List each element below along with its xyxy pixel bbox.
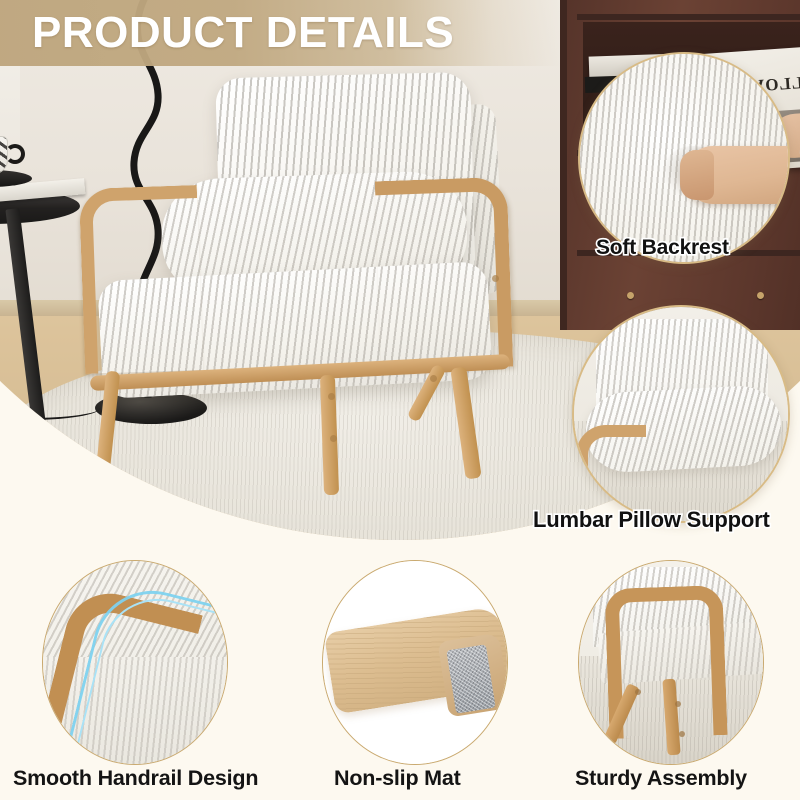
chair-leg — [450, 366, 481, 479]
chair-arm-left — [79, 185, 203, 374]
label-sturdy-assembly: Sturdy Assembly — [575, 766, 747, 791]
feature-sturdy-assembly — [578, 560, 764, 765]
product-details-page: FOLLOW — [0, 0, 800, 800]
assembly-dowel — [635, 689, 641, 695]
cabinet-knob — [757, 292, 764, 299]
chair-dowel — [328, 393, 335, 400]
assembly-dowel — [675, 701, 681, 707]
cabinet-knob — [627, 292, 634, 299]
chair-dowel — [430, 375, 437, 382]
label-soft-backrest: Soft Backrest — [596, 236, 729, 260]
chair-arm-right — [375, 177, 514, 371]
feature-smooth-handrail — [42, 560, 228, 765]
mug-handle — [5, 144, 25, 164]
hand-knuckles — [680, 150, 714, 200]
chair-dowel — [330, 435, 337, 442]
cabinet-shelf — [577, 14, 800, 20]
callout-lumbar-pillow — [572, 305, 790, 523]
page-title: PRODUCT DETAILS — [32, 8, 454, 58]
callout-soft-backrest — [578, 52, 790, 264]
feature-non-slip-mat — [322, 560, 508, 765]
accent-chair — [100, 75, 560, 495]
assembly-dowel — [679, 731, 685, 737]
label-lumbar-pillow-support: Lumbar Pillow Support — [533, 507, 770, 533]
label-smooth-handrail-design: Smooth Handrail Design — [13, 766, 258, 791]
chair-dowel — [492, 275, 499, 282]
label-non-slip-mat: Non-slip Mat — [334, 766, 461, 791]
